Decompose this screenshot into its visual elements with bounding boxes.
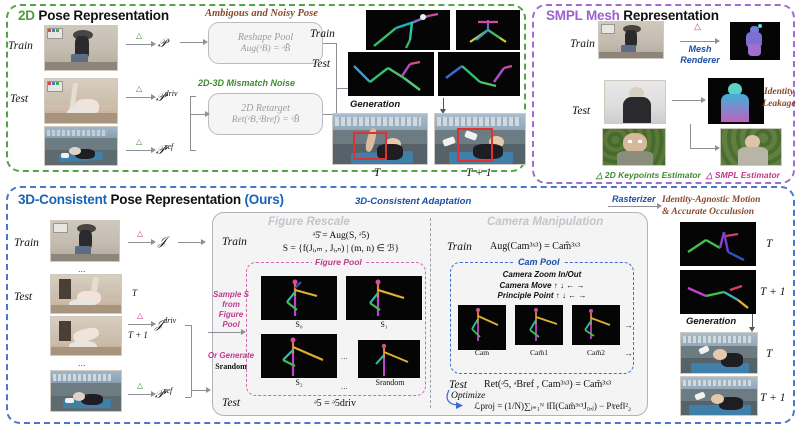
- panel-2d-title-rest: Pose Representation: [35, 8, 169, 23]
- figure-pool-label-random: Srandom: [352, 378, 428, 387]
- outcome-callout: Identity-Agnostic Motion & Accurate Occu…: [662, 194, 792, 218]
- symbol-P-ref: 𝒫ref: [156, 142, 173, 158]
- keypoints-estimator-icon: △: [137, 382, 143, 390]
- camera-op-0: Camera Zoom In/Out: [452, 270, 632, 281]
- label-test-3d: Test: [14, 291, 32, 303]
- cam-more-arrow-2: →: [624, 348, 633, 358]
- cam-skeleton-0: [458, 305, 506, 350]
- smpl-estimator-icon: △: [137, 312, 143, 320]
- label-test-smpl: Test: [572, 105, 590, 117]
- output-generation-T: [680, 332, 758, 374]
- label-train-smpl: Train: [570, 38, 595, 50]
- output-pose-T: [680, 222, 756, 266]
- keypoints-estimator-icon: △: [136, 138, 142, 146]
- frame-label-T1-gen: T + 1: [760, 392, 785, 404]
- sample-line2: from Figure: [209, 300, 253, 320]
- identity-leakage-callout: Identity Leakage: [758, 86, 800, 110]
- cam-pool-label: Cam Pool: [515, 257, 563, 267]
- rescale-formulas: ᵊ5̂ = Aug(S, ᵊ5) S = {f(Jᵢ,ₘ , Jᵢ,ₙ) | (…: [256, 230, 426, 256]
- keypoints-estimator-icon: △: [136, 32, 142, 40]
- cam-label-2: Cam̂2: [566, 348, 626, 357]
- mesh-renderer-line1: Mesh: [672, 44, 728, 55]
- camera-manipulation-title: Camera Manipulation: [487, 216, 603, 228]
- pose-thumb-test-2: [438, 52, 520, 96]
- or-generate-label: Or Generate Srandom: [207, 350, 255, 372]
- frame-label-T1-left: T + 1: [128, 330, 148, 340]
- legend-label-keypoints: 2D Keypoints Estimator: [605, 170, 701, 180]
- generation-label-3d: Generation: [686, 316, 736, 327]
- panel-2d-title-accent: 2D: [18, 8, 35, 23]
- ellipsis-pool-2: ...: [341, 382, 348, 391]
- reshape-pool-box: Reshape Pool Aug(ᵊB) = ᵊB̂: [208, 22, 323, 64]
- figure-pool-skeleton-random: [358, 340, 420, 378]
- legend-label-smpl: SMPL Estimator: [715, 170, 780, 180]
- panel-3d-title-accent: 3D-Consistent: [18, 192, 107, 207]
- projection-loss-formula: ℒproj = (1/N)∑ⱼ₌₁ᴺ ‖Π(Cam̃³ˣ³J₀,ⱼ) − Pʲr…: [474, 401, 631, 412]
- smpl-mesh-test-render: [708, 78, 764, 124]
- panel-3d-title-mid: Pose Representation: [107, 192, 245, 207]
- identity-leakage-line1: Identity: [758, 86, 800, 98]
- pose-thumb-train-1: [366, 10, 450, 50]
- generation-result-T: [332, 113, 428, 165]
- figure-pool-skeleton-2: [261, 334, 337, 378]
- frame-label-T-2d: T: [374, 167, 380, 179]
- test-driving-photo-1: [44, 78, 118, 124]
- pose-thumb-test-1: [348, 52, 434, 96]
- figure-pool-label-0: S₀: [261, 320, 337, 329]
- retarget-line1: 2D Retarget: [241, 103, 290, 114]
- panel-3d-title: 3D-Consistent Pose Representation (Ours): [18, 192, 284, 207]
- figure-pool-label-1: S₁: [346, 320, 422, 329]
- legend-smpl-estimator: △ SMPL Estimator: [706, 170, 780, 181]
- ellipsis-pool-1: ...: [341, 352, 348, 361]
- frame-label-T-gen: T: [766, 348, 772, 360]
- sample-s-label: Sample S from Figure Pool: [209, 290, 253, 330]
- generate-line1: Or Generate: [207, 350, 255, 361]
- cam-skeleton-1: [515, 305, 563, 345]
- ellipsis-1: ...: [78, 264, 86, 274]
- panel-2d-title: 2D Pose Representation: [18, 8, 169, 23]
- frame-label-T-out: T: [766, 238, 772, 250]
- outcome-line2: & Accurate Occulusion: [662, 206, 792, 218]
- train-source-photo: [44, 25, 118, 71]
- smpl-estimator-icon: △: [137, 230, 143, 238]
- 2d-retarget-box: 2D Retarget Ret(ᵊB,ᵊBref) = ᵊB̂: [208, 93, 323, 135]
- reference-photo-3d: [50, 370, 122, 412]
- frame-label-T1-out: T + 1: [760, 286, 785, 298]
- mesh-renderer-line2: Renderer: [672, 55, 728, 66]
- camera-train-label: Train: [447, 241, 472, 253]
- rescale-test-label: Test: [222, 397, 240, 409]
- mesh-renderer-label: Mesh Renderer: [672, 44, 728, 66]
- label-result-test-2d: Test: [312, 58, 330, 70]
- smpl-train-photo: [598, 21, 664, 59]
- generation-label-2d: Generation: [350, 99, 400, 110]
- rescale-test-formula: ᵊ5 = ᵊ5driv: [270, 398, 400, 409]
- symbol-J-driv: 𝒥driv: [155, 316, 176, 332]
- symbol-P-driv: 𝒫driv: [156, 89, 178, 105]
- camera-train-formula: Aug(Cam³ˣ³) = Cam̂³ˣ³: [490, 241, 580, 252]
- smpl-reference-photo: [602, 128, 666, 166]
- generate-line2: Srandom: [207, 361, 255, 372]
- camera-op-2: Principle Point ↑ ↓ ← →: [452, 291, 632, 302]
- frame-label-T-left: T: [132, 288, 137, 298]
- panel-3d-title-ours: (Ours): [245, 192, 284, 207]
- figure-pool-skeleton-0: [261, 276, 337, 320]
- reshape-pool-line2: Aug(ᵊB) = ᵊB̂: [241, 44, 290, 54]
- adaptation-label: 3D-Consistent Adaptation: [355, 196, 471, 207]
- ellipsis-2: ...: [78, 358, 86, 368]
- sample-line1: Sample S: [209, 290, 253, 300]
- figure-pool-label: Figure Pool: [312, 257, 365, 267]
- reshape-pool-line1: Reshape Pool: [238, 32, 293, 43]
- symbol-J: 𝒥: [158, 234, 166, 249]
- cam-skeleton-2: [572, 305, 620, 345]
- retarget-line2: Ret(ᵊB,ᵊBref) = ᵊB̂: [232, 115, 300, 125]
- test-driving-photo-T: [50, 274, 122, 314]
- figure-pool-label-2: S₂: [261, 378, 337, 387]
- smpl-estimator-icon: △: [706, 170, 713, 180]
- label-train-2d: Train: [8, 40, 33, 52]
- generation-result-T1: [434, 113, 526, 165]
- cam-label-1: Cam̂1: [509, 348, 569, 357]
- ambiguous-noisy-pose-callout: Ambigous and Noisy Pose: [205, 8, 318, 19]
- pose-thumb-train-2: [456, 10, 520, 50]
- label-test-2d: Test: [10, 93, 28, 105]
- identity-leakage-line2: Leakage: [758, 98, 800, 110]
- train-photo-3d: [50, 220, 120, 262]
- rescale-formula-2: S = {f(Jᵢ,ₘ , Jᵢ,ₙ) | (m, n) ∈ ℬ}: [256, 243, 426, 256]
- camera-op-1: Camera Move ↑ ↓ ← →: [452, 281, 632, 292]
- smpl-test-photo: [604, 80, 666, 124]
- outcome-line1: Identity-Agnostic Motion: [662, 194, 792, 206]
- label-train-3d: Train: [14, 237, 39, 249]
- keypoints-estimator-icon: △: [136, 85, 142, 93]
- rescale-train-label: Train: [222, 236, 247, 248]
- symbol-P: 𝒫: [158, 36, 167, 51]
- sample-line3: Pool: [209, 320, 253, 330]
- optimize-curve-arrow: [443, 388, 473, 410]
- mismatch-noise-label: 2D-3D Mismatch Noise: [198, 78, 295, 88]
- legend-2d-keypoints-estimator: △ 2D Keypoints Estimator: [596, 170, 701, 181]
- symbol-P-ref-3d: 𝒫ref: [155, 386, 172, 402]
- rasterizer-label: Rasterizer: [612, 194, 656, 204]
- figure-pool-skeleton-1: [346, 276, 422, 320]
- camera-test-formula: Ret(ᵊ5, ᵊBref , Cam³ˣ³) = Cam̃³ˣ³: [484, 379, 611, 390]
- cam-more-arrow-1: →: [624, 320, 633, 330]
- test-reference-photo: [44, 126, 118, 166]
- figure-rescale-title: Figure Rescale: [268, 216, 350, 228]
- cam-label-0: Cam: [452, 348, 512, 357]
- label-result-train-2d: Train: [310, 28, 335, 40]
- smpl-mesh-train-render: [730, 22, 780, 60]
- rescale-formula-1: ᵊ5̂ = Aug(S, ᵊ5): [256, 230, 426, 243]
- output-generation-T1: [680, 376, 758, 416]
- output-pose-T1: [680, 270, 756, 314]
- divider: [430, 218, 432, 408]
- test-driving-photo-T1: [50, 316, 122, 356]
- keypoints-estimator-icon: △: [596, 170, 603, 180]
- smpl-estimator-icon: △: [694, 22, 701, 31]
- frame-label-T1-2d: T + 1: [466, 167, 491, 179]
- camera-ops-list: Camera Zoom In/Out Camera Move ↑ ↓ ← → P…: [452, 270, 632, 302]
- smpl-generation-result: [720, 128, 782, 166]
